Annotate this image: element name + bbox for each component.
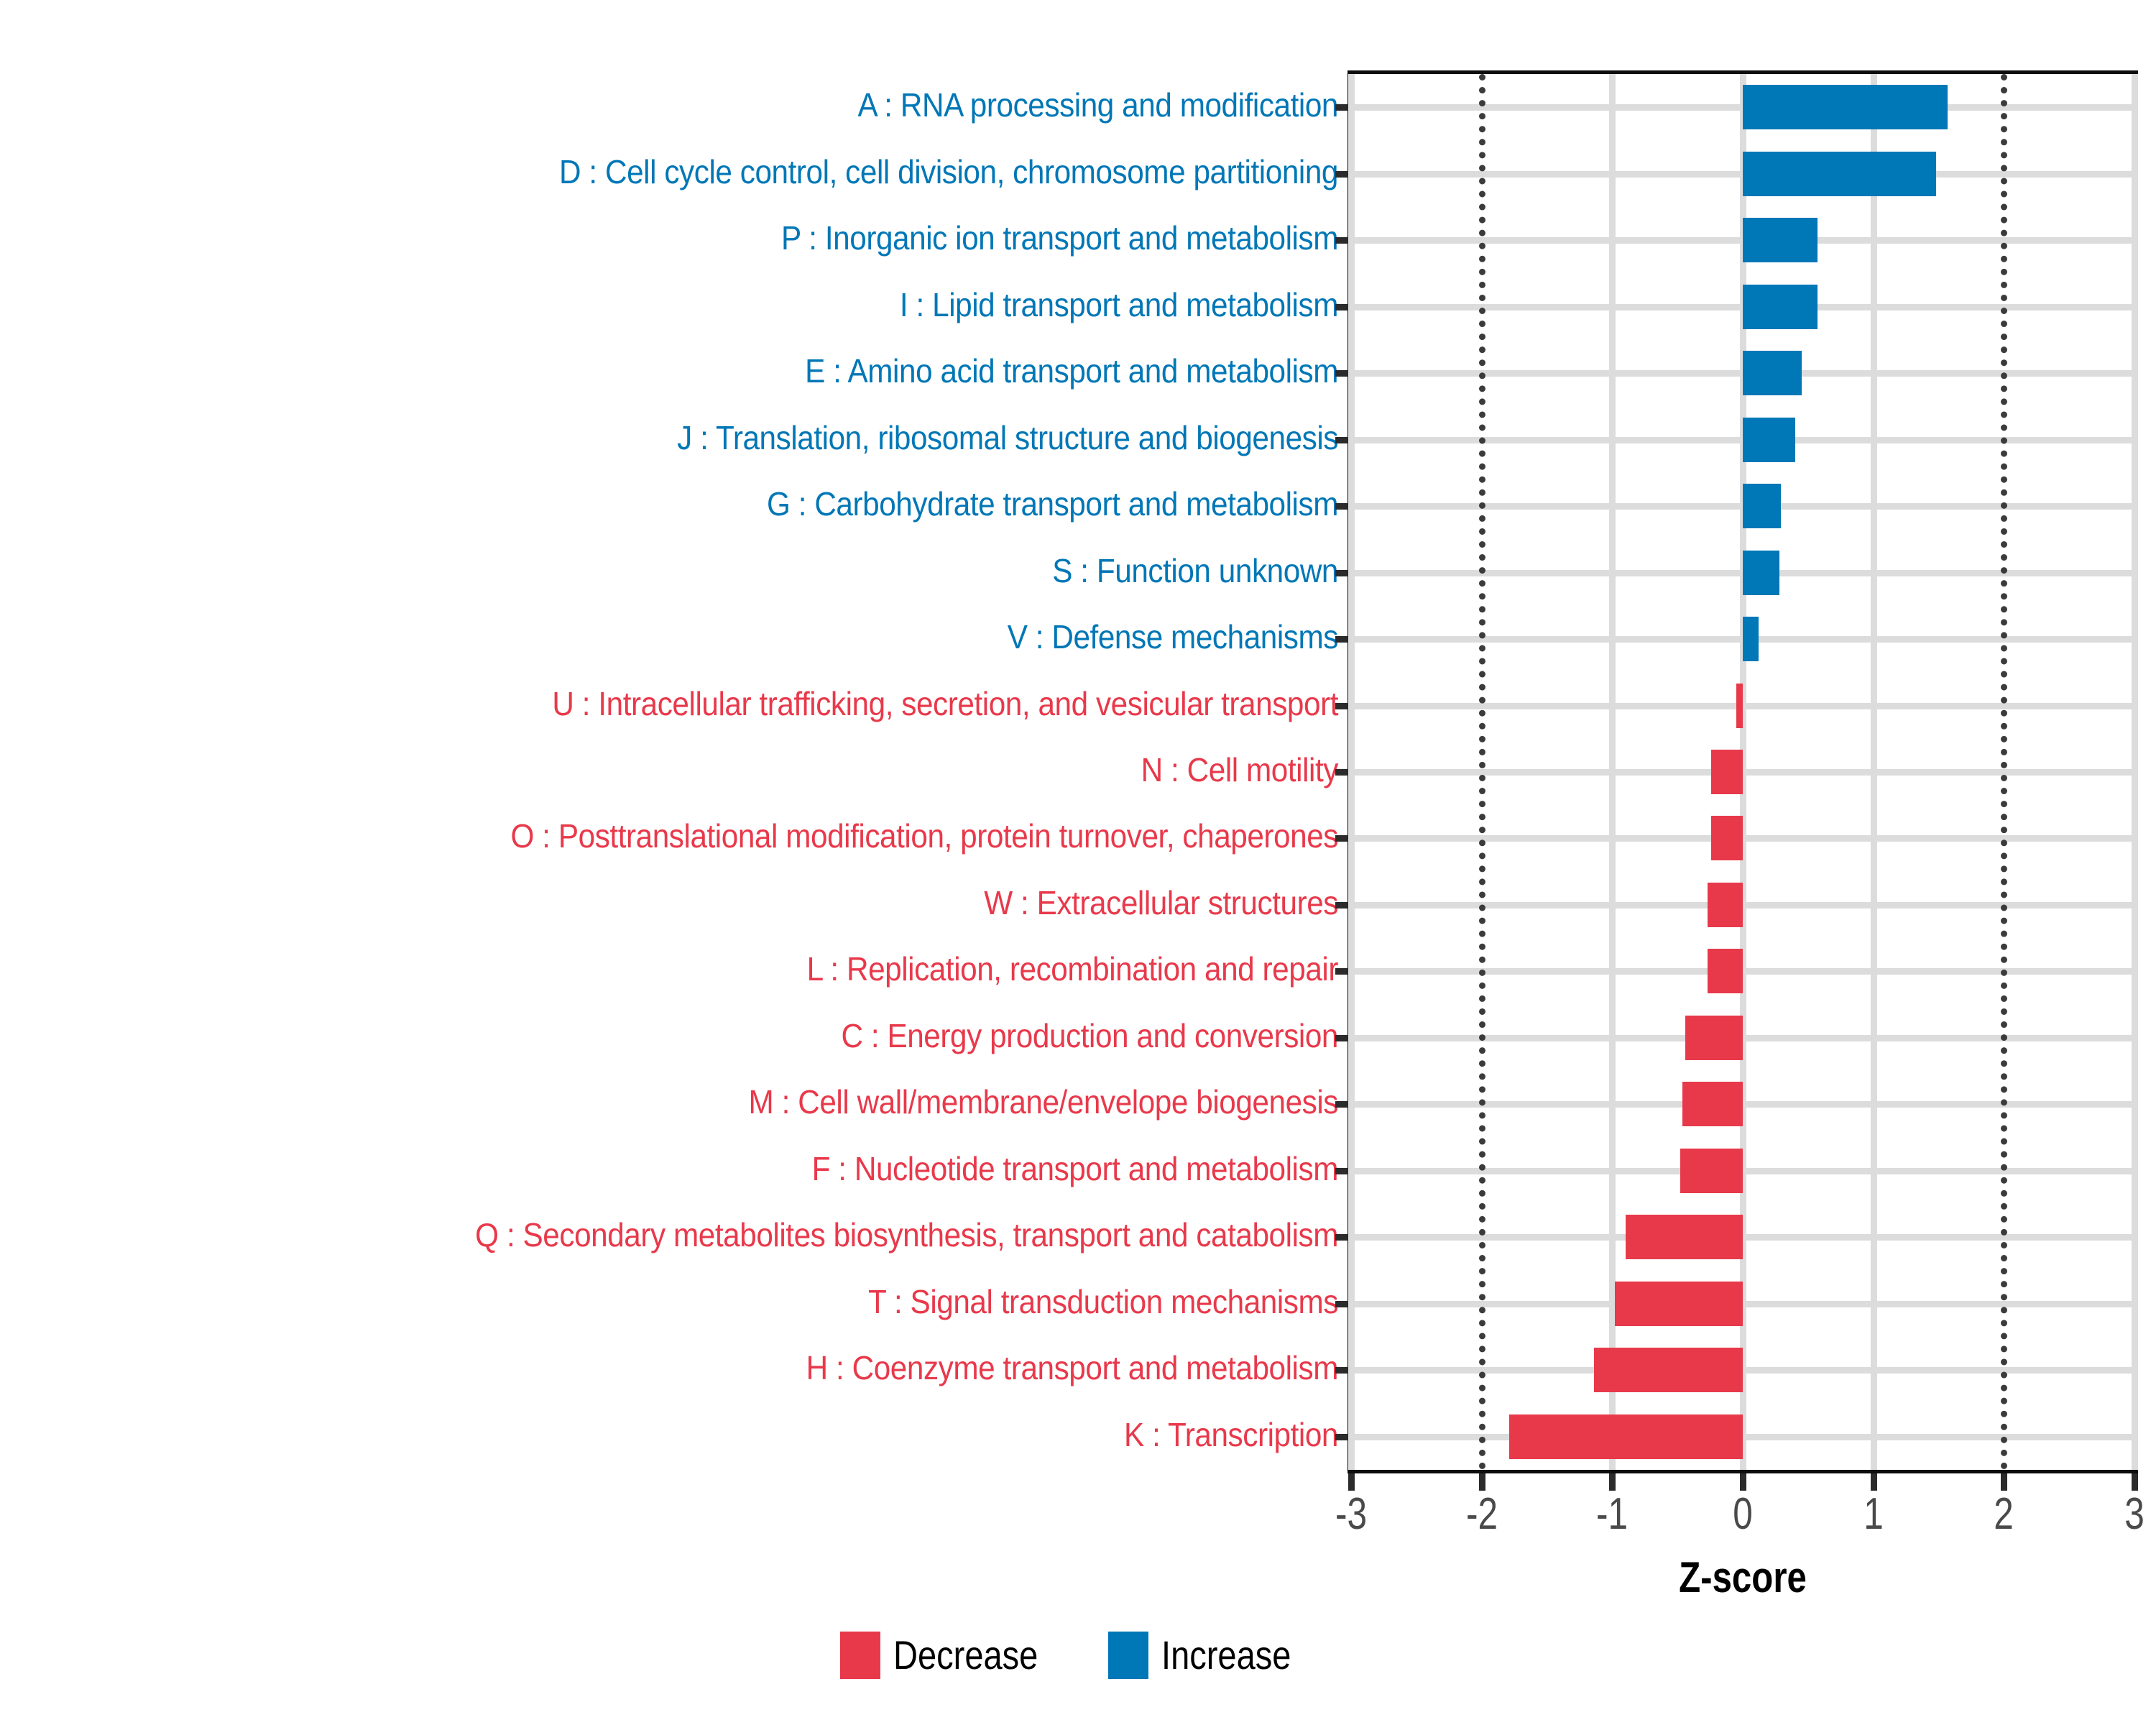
category-label: T : Signal transduction mechanisms	[107, 1285, 1338, 1318]
legend-label: Increase	[1161, 1635, 1291, 1675]
bar	[1680, 1149, 1743, 1193]
category-label: C : Energy production and conversion	[107, 1019, 1338, 1052]
legend-label: Decrease	[893, 1635, 1038, 1675]
legend-item[interactable]: Decrease	[840, 1632, 1066, 1679]
category-label: M : Cell wall/membrane/envelope biogenes…	[107, 1085, 1338, 1118]
reference-line	[2001, 74, 2007, 1470]
x-axis-tick	[1740, 1473, 1746, 1491]
bar	[1743, 152, 1936, 196]
category-label: W : Extracellular structures	[107, 886, 1338, 919]
legend-item[interactable]: Increase	[1108, 1632, 1316, 1679]
category-label: V : Defense mechanisms	[107, 620, 1338, 653]
category-label: S : Function unknown	[107, 554, 1338, 587]
x-axis-tick-label: 0	[1708, 1492, 1777, 1537]
plot-panel	[1347, 70, 2138, 1473]
category-label: P : Inorganic ion transport and metaboli…	[107, 221, 1338, 254]
category-label: O : Posttranslational modification, prot…	[107, 819, 1338, 852]
bar	[1685, 1016, 1743, 1060]
category-label: I : Lipid transport and metabolism	[107, 288, 1338, 321]
gridline-vertical	[1609, 74, 1616, 1470]
x-axis-tick	[2132, 1473, 2138, 1491]
bar	[1682, 1082, 1743, 1126]
bar	[1743, 285, 1818, 329]
category-label: A : RNA processing and modification	[107, 88, 1338, 121]
category-label: F : Nucleotide transport and metabolism	[107, 1152, 1338, 1185]
category-label: Q : Secondary metabolites biosynthesis, …	[107, 1218, 1338, 1251]
x-axis-tick	[1609, 1473, 1616, 1491]
category-label: K : Transcription	[107, 1418, 1338, 1451]
x-axis-tick-label: 1	[1839, 1492, 1908, 1537]
gridline-vertical	[1871, 74, 1877, 1470]
category-label: G : Carbohydrate transport and metabolis…	[107, 487, 1338, 520]
bar	[1743, 418, 1795, 462]
gridline-vertical	[1348, 74, 1355, 1470]
x-axis-title: Z-score	[1419, 1552, 2067, 1602]
legend-swatch-down	[840, 1632, 880, 1679]
bar	[1509, 1414, 1743, 1459]
x-axis-tick	[1479, 1473, 1485, 1491]
category-label: J : Translation, ribosomal structure and…	[107, 421, 1338, 454]
bar	[1743, 218, 1818, 262]
chart-page: A : RNA processing and modificationD : C…	[0, 0, 2156, 1725]
category-label: L : Replication, recombination and repai…	[107, 952, 1338, 985]
bar	[1743, 617, 1759, 661]
x-axis-tick-label: -2	[1447, 1492, 1516, 1537]
x-axis-tick	[1871, 1473, 1877, 1491]
bar	[1708, 883, 1743, 927]
bar	[1743, 85, 1948, 129]
category-label-column: A : RNA processing and modificationD : C…	[0, 70, 1338, 1473]
bar	[1743, 351, 1802, 395]
chart-legend: DecreaseIncrease	[0, 1632, 2156, 1679]
category-label: E : Amino acid transport and metabolism	[107, 354, 1338, 387]
bar	[1708, 949, 1743, 993]
gridline-vertical	[2132, 74, 2138, 1470]
x-axis-tick	[1348, 1473, 1355, 1491]
bar	[1711, 750, 1743, 794]
x-axis-tick-label: -1	[1577, 1492, 1646, 1537]
bar	[1743, 484, 1781, 528]
category-label: H : Coenzyme transport and metabolism	[107, 1351, 1338, 1384]
reference-line	[1479, 74, 1485, 1470]
bar	[1626, 1215, 1743, 1259]
bar	[1615, 1282, 1743, 1326]
x-axis-tick	[2001, 1473, 2007, 1491]
x-axis-tick-label: -3	[1317, 1492, 1386, 1537]
x-axis-tick-label: 2	[1969, 1492, 2038, 1537]
category-label: N : Cell motility	[107, 753, 1338, 786]
category-label: D : Cell cycle control, cell division, c…	[107, 155, 1338, 188]
bar	[1711, 816, 1743, 860]
bar	[1736, 684, 1743, 728]
bar	[1743, 551, 1779, 595]
bar	[1594, 1348, 1743, 1392]
category-label: U : Intracellular trafficking, secretion…	[107, 687, 1338, 720]
x-axis-tick-label: 3	[2100, 1492, 2156, 1537]
legend-swatch-up	[1108, 1632, 1148, 1679]
plot-area	[1351, 74, 2134, 1470]
